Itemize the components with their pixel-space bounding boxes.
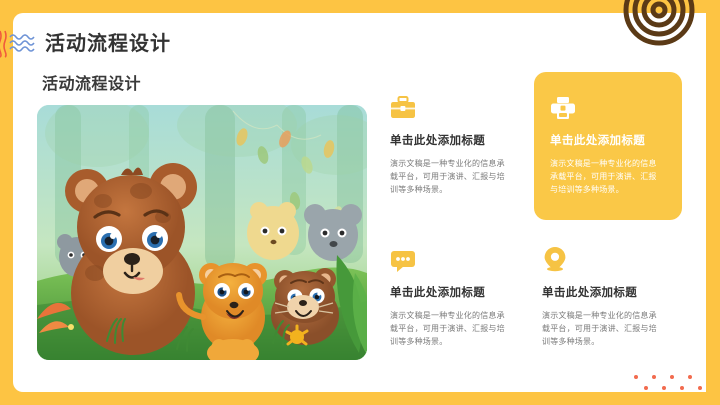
feature-title: 单击此处添加标题 [390,284,518,300]
printer-icon [550,90,668,120]
concentric-rings-icon [623,0,695,46]
feature-title: 单击此处添加标题 [550,132,668,148]
feature-card-2[interactable]: 单击此处添加标题 演示文稿是一种专业化的信息承载平台，可用于演讲、汇报与培训等多… [534,72,682,220]
feature-card-1[interactable]: 单击此处添加标题 演示文稿是一种专业化的信息承载平台，可用于演讲、汇报与培训等多… [382,72,530,220]
page-subtitle: 活动流程设计 [42,70,141,94]
feature-card-3[interactable]: 单击此处添加标题 演示文稿是一种专业化的信息承载平台，可用于演讲、汇报与培训等多… [382,224,530,354]
feature-title: 单击此处添加标题 [390,132,518,148]
feature-card-4[interactable]: 单击此处添加标题 演示文稿是一种专业化的信息承载平台，可用于演讲、汇报与培训等多… [534,224,682,354]
chat-bubble-icon [390,242,518,272]
feature-body: 演示文稿是一种专业化的信息承载平台，可用于演讲、汇报与培训等多种场景。 [390,309,508,349]
page-title: 活动流程设计 [45,27,171,56]
illustration-image [37,105,367,360]
feature-body: 演示文稿是一种专业化的信息承载平台，可用于演讲、汇报与培训等多种场景。 [390,157,508,197]
feature-title: 单击此处添加标题 [542,284,670,300]
briefcase-icon [390,90,518,120]
slide-root: 活动流程设计 活动流程设计 [0,0,720,405]
wave-lines-icon [0,25,45,59]
feature-grid: 单击此处添加标题 演示文稿是一种专业化的信息承载平台，可用于演讲、汇报与培训等多… [382,72,682,362]
dot-grid-icon [634,375,702,397]
feature-body: 演示文稿是一种专业化的信息承载平台，可用于演讲、汇报与培训等多种场景。 [542,309,660,349]
location-pin-icon [542,242,670,272]
feature-body: 演示文稿是一种专业化的信息承载平台，可用于演讲、汇报与培训等多种场景。 [550,157,662,197]
